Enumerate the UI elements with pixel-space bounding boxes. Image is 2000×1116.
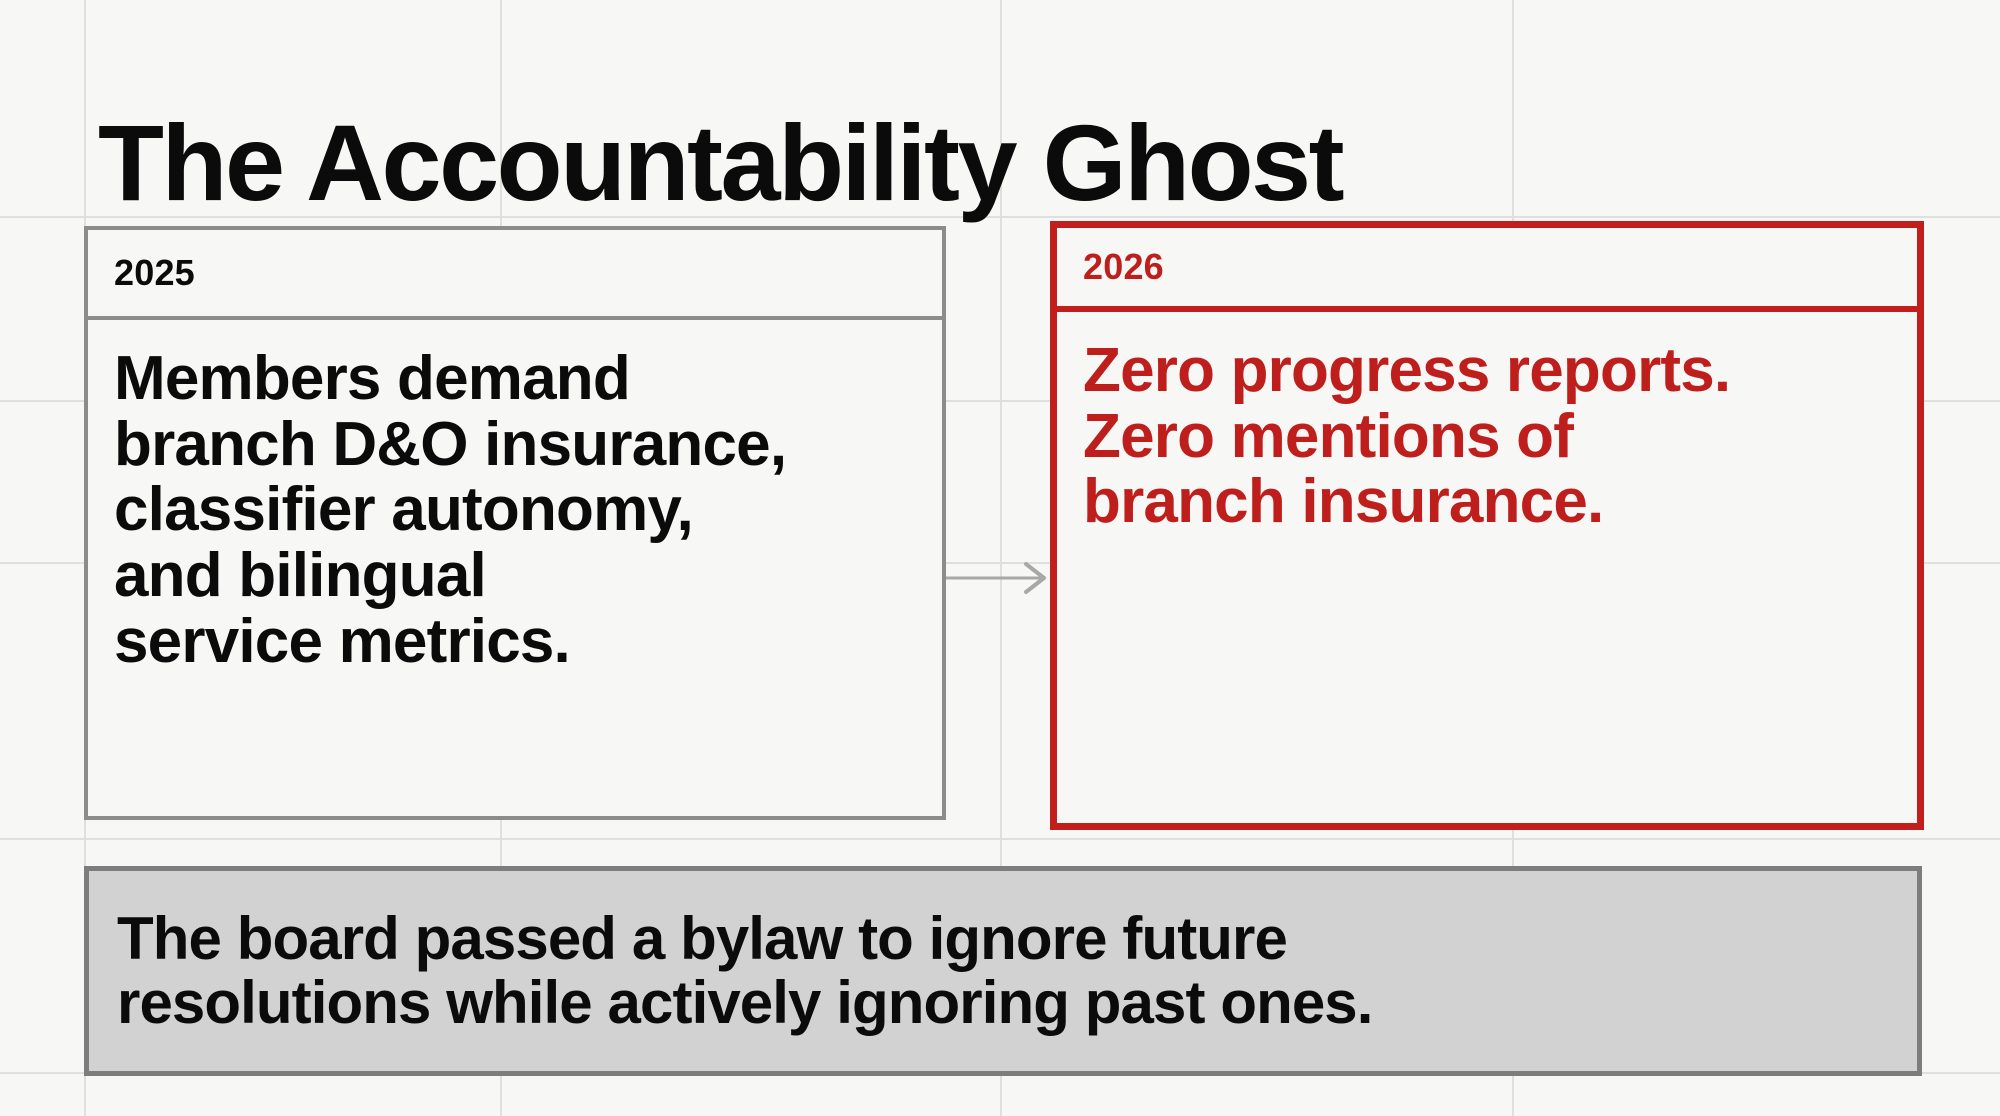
- card-header-2026: 2026: [1057, 228, 1917, 312]
- slide-canvas: The Accountability Ghost 2025 Members de…: [0, 0, 2000, 1116]
- card-header-2025: 2025: [88, 230, 942, 320]
- summary-banner-text: The board passed a bylaw to ignore futur…: [117, 907, 1373, 1035]
- grid-line-horizontal: [0, 838, 2000, 840]
- timeline-card-2025: 2025 Members demand branch D&O insurance…: [84, 226, 946, 820]
- card-connector: [946, 558, 1054, 598]
- summary-banner: The board passed a bylaw to ignore futur…: [84, 866, 1922, 1076]
- card-body-2026: Zero progress reports. Zero mentions of …: [1057, 312, 1917, 823]
- page-title: The Accountability Ghost: [98, 106, 1342, 219]
- card-body-text: Members demand branch D&O insurance, cla…: [114, 346, 912, 675]
- card-year-label: 2026: [1083, 246, 1164, 288]
- arrow-right-icon: [946, 558, 1054, 598]
- card-body-text: Zero progress reports. Zero mentions of …: [1083, 338, 1887, 535]
- card-body-2025: Members demand branch D&O insurance, cla…: [88, 320, 942, 816]
- timeline-card-2026: 2026 Zero progress reports. Zero mention…: [1050, 221, 1924, 830]
- card-year-label: 2025: [114, 252, 195, 294]
